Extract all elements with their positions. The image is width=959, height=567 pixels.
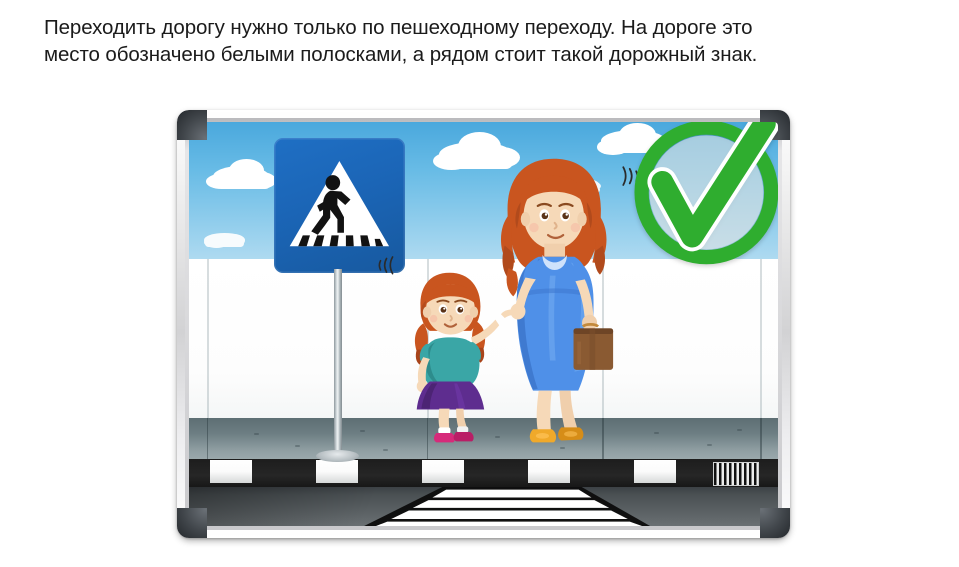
cloud-icon xyxy=(213,166,269,187)
sign-post-base xyxy=(316,450,358,462)
frame-corner-cap-top-left xyxy=(177,110,207,140)
sign-post xyxy=(334,269,343,457)
caption-line-2: место обозначено белыми полосками, а ряд… xyxy=(44,41,919,68)
motion-lines-icon xyxy=(373,254,400,277)
frame-corner-cap-bottom-right xyxy=(760,508,790,538)
green-check-approval-icon xyxy=(628,122,778,268)
caption-line-1: Переходить дорогу нужно только по пешехо… xyxy=(44,14,919,41)
frame-corner-cap-bottom-left xyxy=(177,508,207,538)
cloud-icon xyxy=(204,233,245,247)
illustration-canvas xyxy=(189,122,778,526)
zebra-crosswalk xyxy=(189,487,778,526)
whiteboard-frame xyxy=(177,110,790,538)
curb-block xyxy=(316,460,358,483)
curb-block xyxy=(210,460,252,483)
caption-text: Переходить дорогу нужно только по пешехо… xyxy=(44,14,919,68)
mother-figure xyxy=(484,146,625,471)
storm-drain-grate xyxy=(713,462,759,486)
page-root: Переходить дорогу нужно только по пешехо… xyxy=(0,0,959,567)
curb-block xyxy=(634,460,676,483)
